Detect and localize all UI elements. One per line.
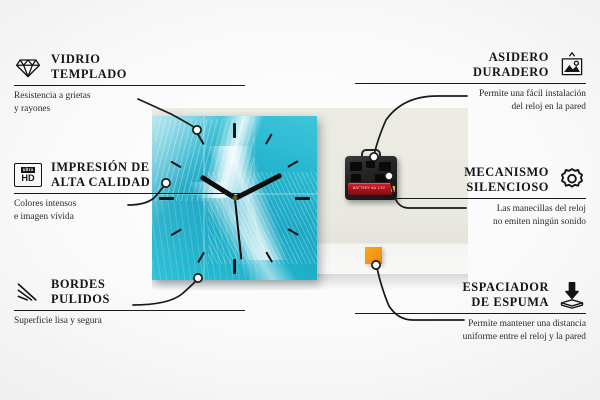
feature-divider [14, 85, 245, 86]
feature-title: ASIDERO DURADERO [473, 50, 549, 80]
infographic-canvas: BATTERY AA 1.5V [0, 0, 600, 400]
clock-tick [233, 259, 236, 274]
feature-heading-row: ultra HD IMPRESIÓN DE ALTA CALIDAD [14, 160, 245, 190]
hd-label: HD [21, 174, 34, 183]
foam-spacer-icon [558, 281, 586, 309]
gear-icon [558, 166, 586, 194]
ultra-label: ultra [21, 167, 36, 173]
feature-divider [355, 313, 586, 314]
foam-spacer [365, 247, 382, 264]
feature-title: MECANISMO SILENCIOSO [464, 165, 549, 195]
feature-description: Resistencia a grietas y rayones [14, 90, 245, 114]
feature-title: VIDRIO TEMPLADO [51, 52, 127, 82]
clock-center-pin [232, 196, 237, 201]
feature-heading-row: VIDRIO TEMPLADO [14, 52, 245, 82]
feature-divider [14, 193, 245, 194]
polished-edges-icon [14, 278, 42, 306]
feature-espaciador-espuma: ESPACIADOR DE ESPUMA Permite mantener un… [355, 280, 586, 343]
feature-mecanismo-silencioso: MECANISMO SILENCIOSO Las manecillas del … [355, 165, 586, 228]
clock-tick [295, 197, 310, 200]
feature-heading-row: ESPACIADOR DE ESPUMA [355, 280, 586, 310]
feature-title: IMPRESIÓN DE ALTA CALIDAD [51, 160, 150, 190]
diamond-icon [14, 53, 42, 81]
feature-description: Permite mantener una distancia uniforme … [355, 318, 586, 342]
feature-divider [14, 310, 245, 311]
feature-description: Las manecillas del reloj no emiten ningú… [355, 203, 586, 227]
feature-heading-row: ASIDERO DURADERO [355, 50, 586, 80]
feature-vidrio-templado: VIDRIO TEMPLADO Resistencia a grietas y … [14, 52, 245, 115]
feature-impresion-alta-calidad: ultra HD IMPRESIÓN DE ALTA CALIDAD Color… [14, 160, 245, 223]
ultra-hd-icon: ultra HD [14, 163, 42, 187]
wall-hanger-icon [558, 51, 586, 79]
feature-asidero-duradero: ASIDERO DURADERO Permite una fácil insta… [355, 50, 586, 113]
feature-description: Colores intensos e imagen vívida [14, 198, 245, 222]
clock-tick [233, 123, 236, 138]
feature-bordes-pulidos: BORDES PULIDOS Superficie lisa y segura [14, 277, 245, 328]
feature-title: ESPACIADOR DE ESPUMA [462, 280, 549, 310]
feature-title: BORDES PULIDOS [51, 277, 110, 307]
feature-divider [355, 83, 586, 84]
feature-description: Superficie lisa y segura [14, 315, 245, 327]
feature-divider [355, 198, 586, 199]
feature-heading-row: MECANISMO SILENCIOSO [355, 165, 586, 195]
feature-heading-row: BORDES PULIDOS [14, 277, 245, 307]
feature-description: Permite una fácil instalación del reloj … [355, 88, 586, 112]
